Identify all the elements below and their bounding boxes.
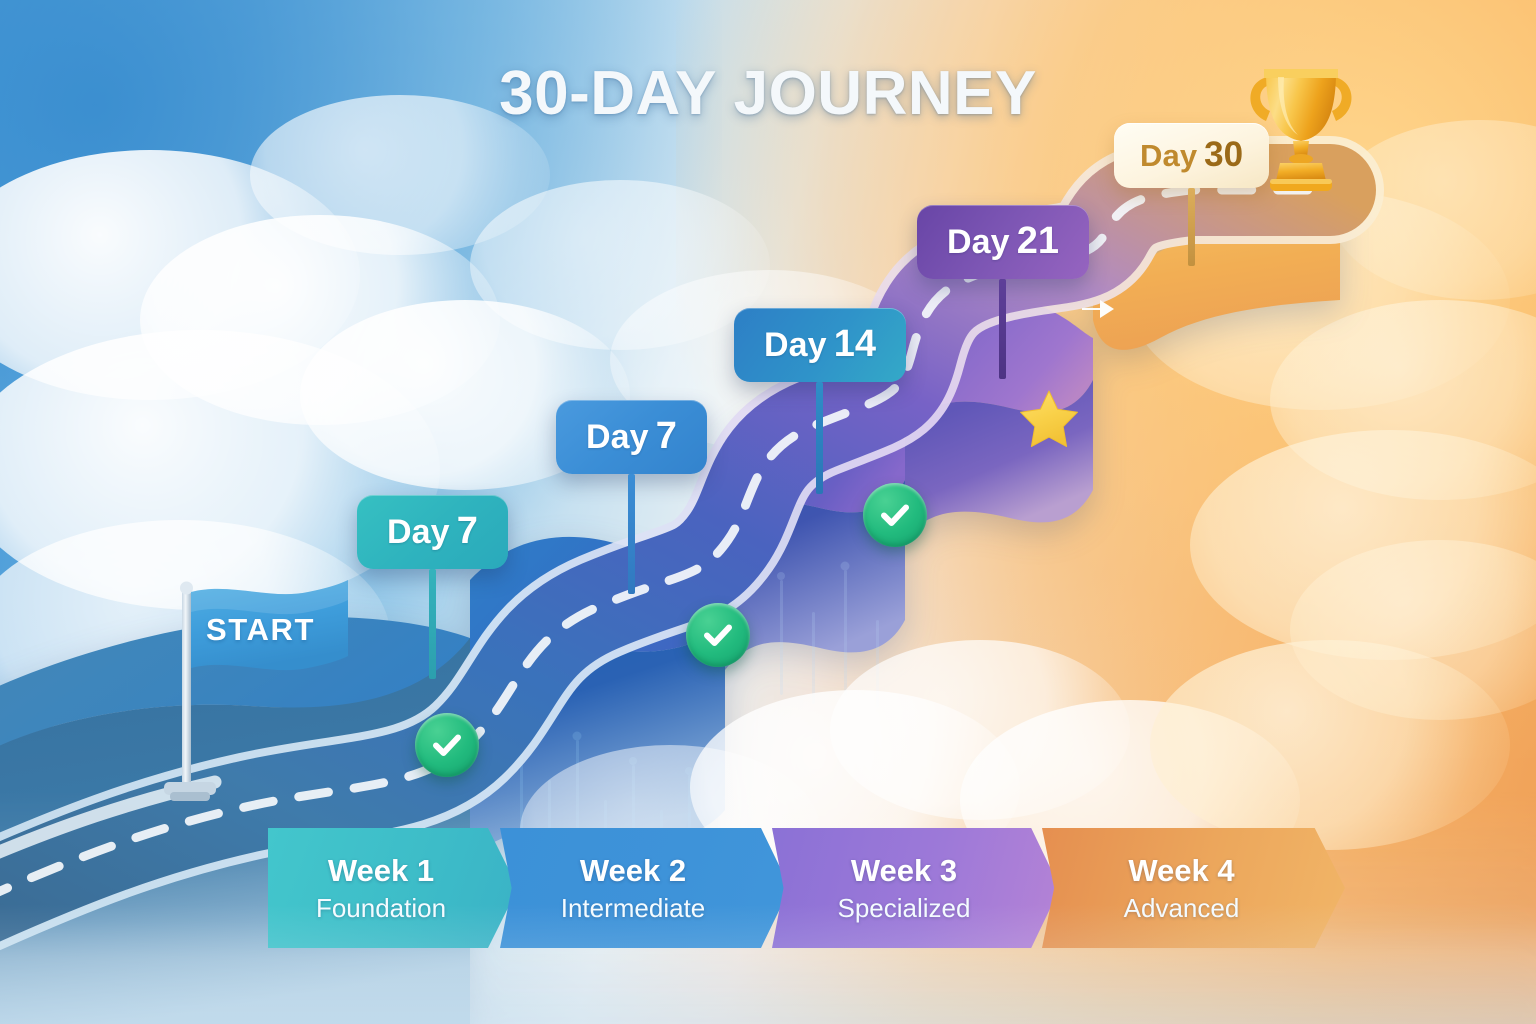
milestone-number-5: 30 xyxy=(1204,135,1243,174)
milestone-label-4: Day xyxy=(947,223,1010,261)
milestone-sign-1[interactable]: Day7 xyxy=(357,495,508,679)
milestone-number-4: 21 xyxy=(1017,220,1059,262)
bottom-atmosphere-haze xyxy=(0,904,1536,1024)
milestone-label-5: Day xyxy=(1140,138,1197,173)
direction-arrow-marker xyxy=(1080,296,1120,322)
milestone-number-3: 14 xyxy=(834,323,876,365)
milestone-sign-3[interactable]: Day14 xyxy=(734,308,906,494)
milestone-post-1 xyxy=(429,569,436,679)
milestone-post-4 xyxy=(999,279,1006,379)
milestone-number-1: 7 xyxy=(457,510,478,552)
week-title-4: Week 4 xyxy=(1124,855,1240,886)
milestone-plate-3[interactable]: Day14 xyxy=(734,308,906,382)
trophy-award xyxy=(1240,55,1362,195)
checkpoint-badge-week2[interactable] xyxy=(686,603,750,667)
checkpoint-badge-week3[interactable] xyxy=(863,483,927,547)
milestone-label-1: Day xyxy=(387,513,450,551)
star-marker[interactable] xyxy=(1018,389,1080,449)
milestone-label-3: Day xyxy=(764,326,827,364)
checkpoint-badge-week1[interactable] xyxy=(415,713,479,777)
milestone-label-2: Day xyxy=(586,418,649,456)
milestone-post-2 xyxy=(628,474,635,594)
milestone-plate-4[interactable]: Day21 xyxy=(917,205,1089,279)
milestone-post-3 xyxy=(816,382,823,494)
trophy-icon xyxy=(1240,55,1362,195)
star-icon xyxy=(1018,389,1080,449)
milestone-number-2: 7 xyxy=(656,415,677,457)
milestone-sign-4[interactable]: Day21 xyxy=(917,205,1089,379)
milestone-sign-2[interactable]: Day7 xyxy=(556,400,707,594)
check-icon xyxy=(877,497,913,533)
arrow-right-icon xyxy=(1080,296,1120,322)
start-flag: START xyxy=(160,570,360,810)
milestone-post-5 xyxy=(1188,188,1195,266)
milestone-plate-1[interactable]: Day7 xyxy=(357,495,508,569)
week-title-1: Week 1 xyxy=(316,855,446,886)
infographic-canvas: 30-DAY JOURNEY xyxy=(0,0,1536,1024)
check-icon xyxy=(700,617,736,653)
week-title-3: Week 3 xyxy=(838,855,971,886)
milestone-plate-2[interactable]: Day7 xyxy=(556,400,707,474)
week-title-2: Week 2 xyxy=(561,855,706,886)
check-icon xyxy=(429,727,465,763)
